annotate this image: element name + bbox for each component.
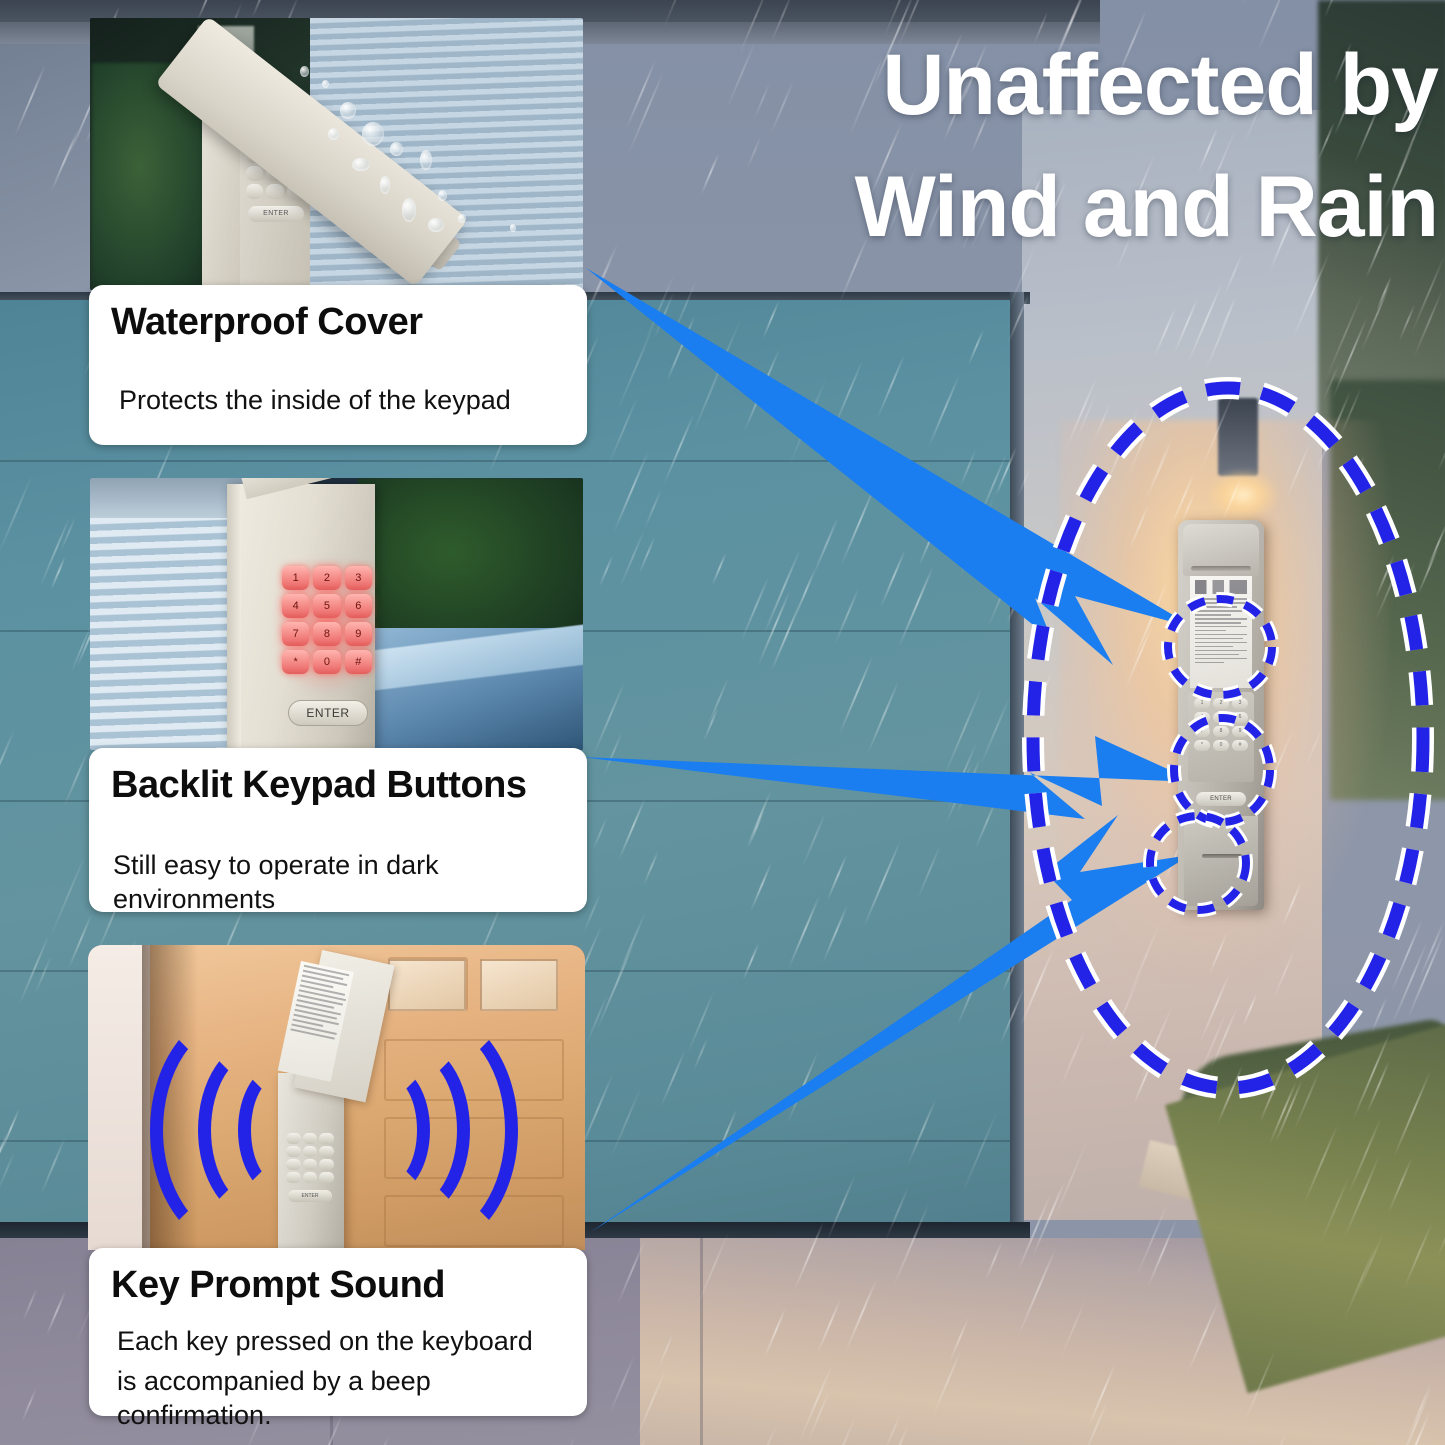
keypad-key-8[interactable]: 8: [1213, 726, 1229, 737]
keypad-key-0: [266, 184, 283, 199]
wall-lamp-light: [1208, 470, 1278, 520]
photo1-enter-button: ENTER: [248, 206, 304, 222]
keypad-key-8: 8: [313, 622, 340, 646]
wall-lamp-fixture: [1218, 398, 1258, 476]
keypad-key-4[interactable]: 4: [1194, 712, 1210, 723]
keypad-key-2[interactable]: 2: [1213, 698, 1229, 709]
keypad-enter-button[interactable]: ENTER: [1196, 792, 1246, 806]
keypad-key-9: [319, 1159, 334, 1170]
card-description-backlit-keypad: Still easy to operate in dark environmen…: [111, 848, 569, 916]
keypad-key-star[interactable]: *: [1194, 740, 1210, 751]
keypad-buttons[interactable]: 123456789*0#: [1194, 698, 1248, 751]
keypad-speaker-vent: [1202, 854, 1242, 858]
keypad-key-3: 3: [345, 566, 372, 590]
photo-key-prompt-sound: ENTER: [88, 945, 585, 1250]
photo-waterproof-cover: ENTER: [90, 18, 583, 290]
card-title-key-prompt-sound: Key Prompt Sound: [111, 1264, 569, 1308]
keypad-key-9: 9: [345, 622, 372, 646]
callout-card-waterproof-cover: Waterproof Cover Protects the inside of …: [89, 285, 587, 445]
page-title: Unaffected by Wind and Rain: [683, 24, 1438, 268]
keypad-key-7: 7: [282, 622, 309, 646]
keypad-key-star: *: [282, 650, 309, 674]
keypad-key-4: 4: [282, 594, 309, 618]
card-description-line-2: is accompanied by a beep confirmation.: [111, 1364, 569, 1432]
keypad-key-6: [319, 1146, 334, 1157]
keypad-key-2: 2: [313, 566, 340, 590]
card-description-waterproof-cover: Protects the inside of the keypad: [111, 383, 569, 417]
keypad-key-0: 0: [313, 650, 340, 674]
card-description-line-1: Each key pressed on the keyboard: [111, 1324, 569, 1358]
sound-wave-left-3: [150, 1011, 318, 1249]
keypad-key-5: 5: [313, 594, 340, 618]
keypad-key-hash: #: [345, 650, 372, 674]
keypad-key-6[interactable]: 6: [1232, 712, 1248, 723]
keypad-key-9[interactable]: 9: [1232, 726, 1248, 737]
keypad-cover-seam: [1191, 566, 1251, 571]
keypad-key-7: [246, 166, 263, 181]
wall-mounted-keypad: 123456789*0# ENTER: [1178, 520, 1264, 910]
keypad-instruction-label: [1190, 576, 1252, 688]
card-title-backlit-keypad: Backlit Keypad Buttons: [111, 764, 569, 808]
sound-wave-right-3: [350, 1011, 518, 1249]
keypad-key-6: 6: [345, 594, 372, 618]
keypad-key-1[interactable]: 1: [1194, 698, 1210, 709]
keypad-key-5[interactable]: 5: [1213, 712, 1229, 723]
keypad-lower-housing: [1184, 816, 1258, 906]
keypad-key-0[interactable]: 0: [1213, 740, 1229, 751]
garage-door-frame-right: [1010, 292, 1024, 1237]
keypad-key-3: [319, 1133, 334, 1144]
callout-card-key-prompt-sound: Key Prompt Sound Each key pressed on the…: [89, 1248, 587, 1416]
photo2-enter-button: ENTER: [288, 700, 368, 726]
keypad-key-hash[interactable]: #: [1232, 740, 1248, 751]
card-title-waterproof-cover: Waterproof Cover: [111, 301, 569, 345]
headline-line-2: Wind and Rain: [683, 146, 1438, 268]
photo2-keypad-buttons: 123456789*0#: [282, 566, 372, 674]
keypad-key-star: [246, 184, 263, 199]
keypad-key-1: 1: [282, 566, 309, 590]
keypad-key-7[interactable]: 7: [1194, 726, 1210, 737]
keypad-key-3[interactable]: 3: [1232, 698, 1248, 709]
callout-card-backlit-keypad: Backlit Keypad Buttons Still easy to ope…: [89, 748, 587, 912]
photo-backlit-keypad: 123456789*0# ENTER: [90, 478, 583, 750]
headline-line-1: Unaffected by: [683, 24, 1438, 146]
infographic-canvas: Unaffected by Wind and Rain 123456789*0#…: [0, 0, 1445, 1445]
keypad-key-hash: [319, 1172, 334, 1183]
